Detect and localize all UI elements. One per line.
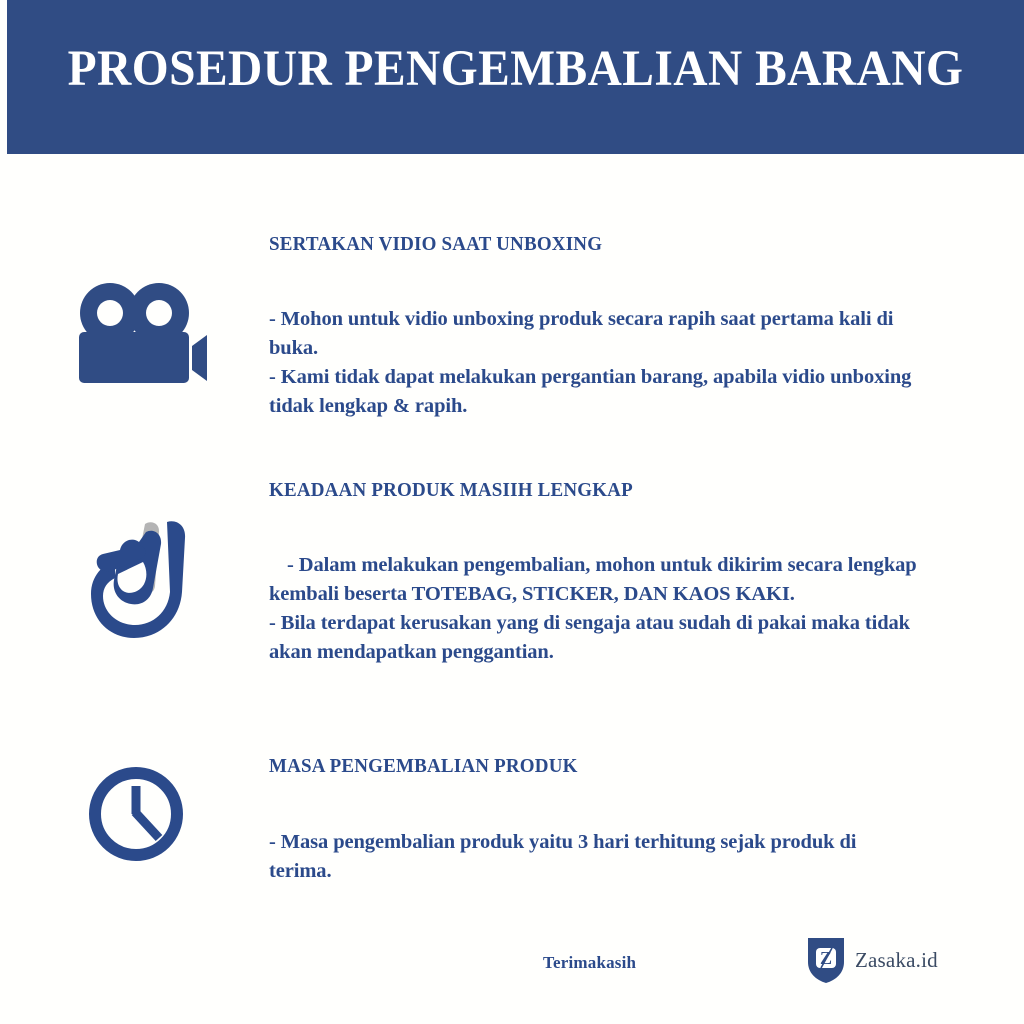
section-3-text: - Masa pengembalian produk yaitu 3 hari … [269,828,969,886]
header-banner: PROSEDUR PENGEMBALIAN BARANG [7,0,1024,154]
section-3-line-1: - Masa pengembalian produk yaitu 3 hari … [269,828,969,857]
section-3-body: MASA PENGEMBALIAN PRODUK - Masa pengemba… [269,754,969,886]
section-1-line-2: buka. [269,334,969,363]
page-title: PROSEDUR PENGEMBALIAN BARANG [43,44,989,95]
section-3-line-2: terima. [269,857,969,886]
thanks-text: Terimakasih [543,953,636,973]
section-2-body: KEADAAN PRODUK MASIIH LENGKAP - Dalam me… [269,478,969,667]
section-2-line-3: - Bila terdapat kerusakan yang di sengaj… [269,609,969,638]
brand-name: Zasaka.id [855,948,938,973]
section-2-heading: KEADAAN PRODUK MASIIH LENGKAP [269,478,934,502]
section-1-line-3: - Kami tidak dapat melakukan pergantian … [269,363,969,392]
section-1-line-1: - Mohon untuk vidio unboxing produk seca… [269,305,969,334]
section-1-text: - Mohon untuk vidio unboxing produk seca… [269,305,969,421]
ok-hand-icon [85,514,195,642]
section-1-line-4: tidak lengkap & rapih. [269,392,969,421]
section-1-heading: SERTAKAN VIDIO SAAT UNBOXING [269,232,934,256]
clock-icon [88,766,186,864]
zasaka-shield-logo: Z [806,935,846,985]
brand-lockup: Z Zasaka.id [806,935,938,985]
section-2-line-2: kembali beserta TOTEBAG, STICKER, DAN KA… [269,580,969,609]
section-3-heading: MASA PENGEMBALIAN PRODUK [269,754,934,778]
poster-canvas: PROSEDUR PENGEMBALIAN BARANG SERTAKAN VI… [0,0,1024,1024]
section-2-line-1: - Dalam melakukan pengembalian, mohon un… [269,551,969,580]
video-camera-icon [70,280,210,390]
section-2-text: - Dalam melakukan pengembalian, mohon un… [269,551,969,667]
footer: Terimakasih Z Zasaka.id [0,945,1024,1015]
section-1-body: SERTAKAN VIDIO SAAT UNBOXING - Mohon unt… [269,232,969,421]
section-2-line-4: akan mendapatkan penggantian. [269,638,969,667]
